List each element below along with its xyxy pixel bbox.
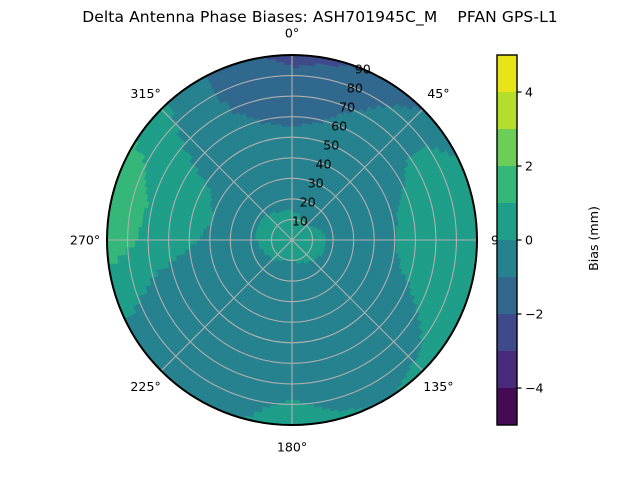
contour-cell [292,391,299,394]
contour-cell [437,234,440,240]
contour-cell [287,345,292,348]
contour-cell [397,235,400,240]
contour-cell [418,234,421,240]
contour-cell [292,141,296,144]
contour-cell [292,98,298,101]
contour-cell [424,234,427,240]
contour-cell [292,86,299,89]
contour-cell [288,323,292,326]
contour-cell [443,233,446,240]
contour-cell [391,240,394,244]
contour-cell [292,129,297,132]
contour-cell [292,323,296,326]
contour-cell [428,234,431,240]
contour-cell [381,240,384,244]
contour-cell [292,332,296,335]
contour-cell [292,354,297,357]
contour-cell [409,240,412,245]
contour-cell [287,348,292,351]
contour-cell [286,385,292,388]
contour-cell [288,329,292,332]
contour-cell [292,388,299,391]
contour-cell [431,240,434,246]
contour-cell [440,240,443,247]
contour-cell [292,89,299,92]
contour-cell [292,369,298,372]
contour-cell [285,391,292,394]
contour-cell [418,240,421,246]
contour-cell [387,240,390,244]
contour-cell [292,83,299,86]
contour-cell [378,240,381,244]
contour-cell [287,351,292,354]
contour-cell [292,107,298,110]
contour-cell [292,394,299,397]
contour-cell [381,236,384,240]
contour-cell [292,80,299,83]
contour-cell [286,379,292,382]
contour-cell [440,233,443,240]
contour-cell [292,154,296,157]
contour-cell [288,335,292,338]
contour-cell [443,240,446,247]
contour-cell [403,240,406,245]
contour-cell [285,397,292,400]
contour-cell [384,236,387,240]
contour-cell [292,326,296,329]
contour-cell [375,240,378,244]
contour-cell [286,366,292,369]
contour-cell [292,376,298,379]
contour-cell [286,376,292,379]
contour-cell [397,240,400,245]
contour-cell [287,354,292,357]
contour-cell [292,104,298,107]
polar-contour-plot: 0°45°90135°180°225°270°315° 102030405060… [0,0,640,480]
contour-cell [431,234,434,240]
contour-cell [292,126,297,129]
contour-cell [400,235,403,240]
contour-cell [292,366,298,369]
contour-cell [286,372,292,375]
contour-cell [288,339,292,342]
contour-cell [406,240,409,245]
contour-cell [391,236,394,240]
contour-cell [378,236,381,240]
contour-cell [387,236,390,240]
contour-cell [292,138,296,141]
contour-cell [292,132,297,135]
contour-cell [292,92,298,95]
contour-cell [421,234,424,240]
contour-cell [288,326,292,329]
contour-cell [292,339,296,342]
contour-cell [292,348,297,351]
contour-cell [437,240,440,246]
contour-cell [409,235,412,240]
contour-cell [292,397,299,400]
figure-canvas: Delta Antenna Phase Biases: ASH701945C_M… [0,0,640,480]
contour-cell [375,236,378,240]
contour-cell [292,151,296,154]
contour-cell [403,235,406,240]
contour-cell [285,394,292,397]
contour-cell [292,345,297,348]
contour-cell [288,332,292,335]
contour-cell [292,148,296,151]
contour-cell [428,240,431,246]
contour-cell [285,388,292,391]
contour-cell [406,235,409,240]
contour-cell [292,357,297,360]
contour-cell [286,369,292,372]
contour-cell [292,335,296,338]
contour-cell [292,101,298,104]
contour-cell [421,240,424,246]
contour-cell [292,111,298,114]
contour-cell [292,372,298,375]
contour-cell [292,329,296,332]
contour-cell [292,144,296,147]
contour-cell [292,123,297,126]
contour-cell [384,240,387,244]
contour-cell [292,120,297,123]
contour-cell [446,240,449,247]
contour-cell [400,240,403,245]
contour-cell [292,385,298,388]
contour-cell [292,379,298,382]
contour-cell [449,240,452,247]
contour-cell [449,233,452,240]
contour-cell [292,351,297,354]
contour-cell [446,233,449,240]
contour-cell [287,357,292,360]
contour-cell [424,240,427,246]
